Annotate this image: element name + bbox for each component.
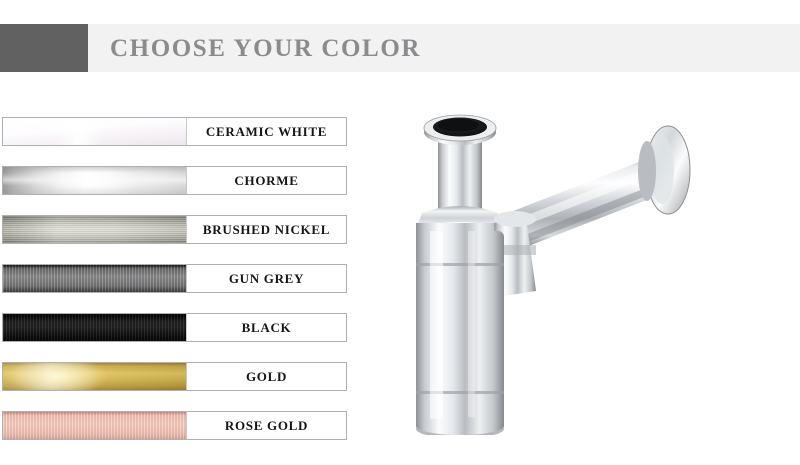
color-row-gun-grey[interactable]: GUN GREY — [2, 264, 347, 293]
swatch-texture-overlay — [3, 167, 186, 194]
color-swatch-rose-gold[interactable] — [3, 412, 186, 439]
color-row-gold[interactable]: GOLD — [2, 362, 347, 391]
color-label-cell: BLACK — [186, 314, 346, 341]
color-label-cell: CERAMIC WHITE — [186, 118, 346, 145]
color-label-brushed-nickel: BRUSHED NICKEL — [203, 222, 330, 238]
color-row-brushed-nickel[interactable]: BRUSHED NICKEL — [2, 215, 347, 244]
swatch-texture-overlay — [3, 118, 186, 145]
swatch-texture-overlay — [3, 216, 186, 243]
color-row-rose-gold[interactable]: ROSE GOLD — [2, 411, 347, 440]
color-label-cell: GUN GREY — [186, 265, 346, 292]
color-swatch-black[interactable] — [3, 314, 186, 341]
color-swatch-gold[interactable] — [3, 363, 186, 390]
wall-flange — [638, 126, 690, 214]
color-label-ceramic-white: CERAMIC WHITE — [206, 124, 327, 140]
swatch-texture-overlay — [3, 314, 186, 341]
color-label-cell: GOLD — [186, 363, 346, 390]
trap-inlet-rim — [424, 115, 496, 145]
swatch-texture-overlay — [3, 265, 186, 292]
product-image-container — [400, 95, 800, 435]
color-label-rose-gold: ROSE GOLD — [225, 418, 308, 434]
header-accent-block — [0, 24, 88, 72]
page-title: CHOOSE YOUR COLOR — [110, 36, 421, 61]
color-label-cell: CHORME — [186, 167, 346, 194]
color-label-cell: BRUSHED NICKEL — [186, 216, 346, 243]
color-label-chorme: CHORME — [234, 173, 298, 189]
color-label-cell: ROSE GOLD — [186, 412, 346, 439]
color-swatch-brushed-nickel[interactable] — [3, 216, 186, 243]
color-label-gun-grey: GUN GREY — [229, 271, 304, 287]
color-row-black[interactable]: BLACK — [2, 313, 347, 342]
page-header: CHOOSE YOUR COLOR — [0, 24, 800, 72]
color-swatch-ceramic-white[interactable] — [3, 118, 186, 145]
color-row-ceramic-white[interactable]: CERAMIC WHITE — [2, 117, 347, 146]
chrome-bottle-trap-illustration — [400, 95, 800, 435]
color-swatch-gun-grey[interactable] — [3, 265, 186, 292]
swatch-texture-overlay — [3, 363, 186, 390]
color-swatch-chorme[interactable] — [3, 167, 186, 194]
color-row-chorme[interactable]: CHORME — [2, 166, 347, 195]
color-label-gold: GOLD — [246, 369, 287, 385]
swatch-texture-overlay — [3, 412, 186, 439]
trap-body — [416, 231, 504, 435]
color-options-table: CERAMIC WHITE CHORME BRUSHED NICKEL GUN … — [2, 117, 347, 460]
color-label-black: BLACK — [242, 320, 292, 336]
